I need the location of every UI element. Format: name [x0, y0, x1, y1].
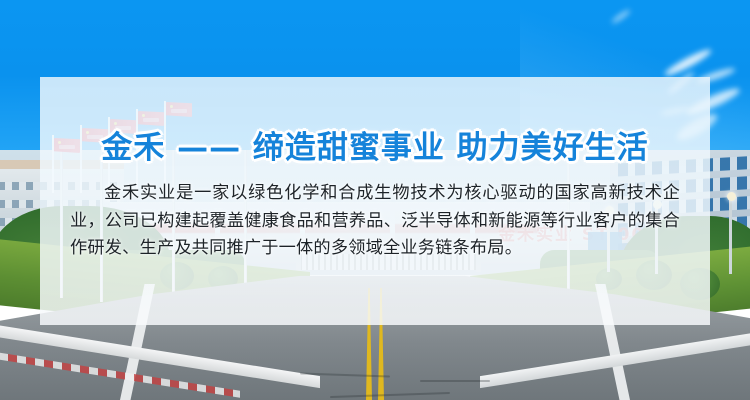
lamp-bulb-icon [727, 192, 736, 201]
road-crack [420, 380, 490, 382]
banner-image: 金禾实业 ST 002597 [0, 0, 750, 400]
street-lamp [729, 196, 732, 274]
page-title: 金禾 —— 缔造甜蜜事业 助力美好生活 [40, 122, 710, 167]
company-description: 金禾实业是一家以绿色化学和合成生物技术为核心驱动的国家高新技术企业，公司已构建起… [70, 180, 680, 263]
